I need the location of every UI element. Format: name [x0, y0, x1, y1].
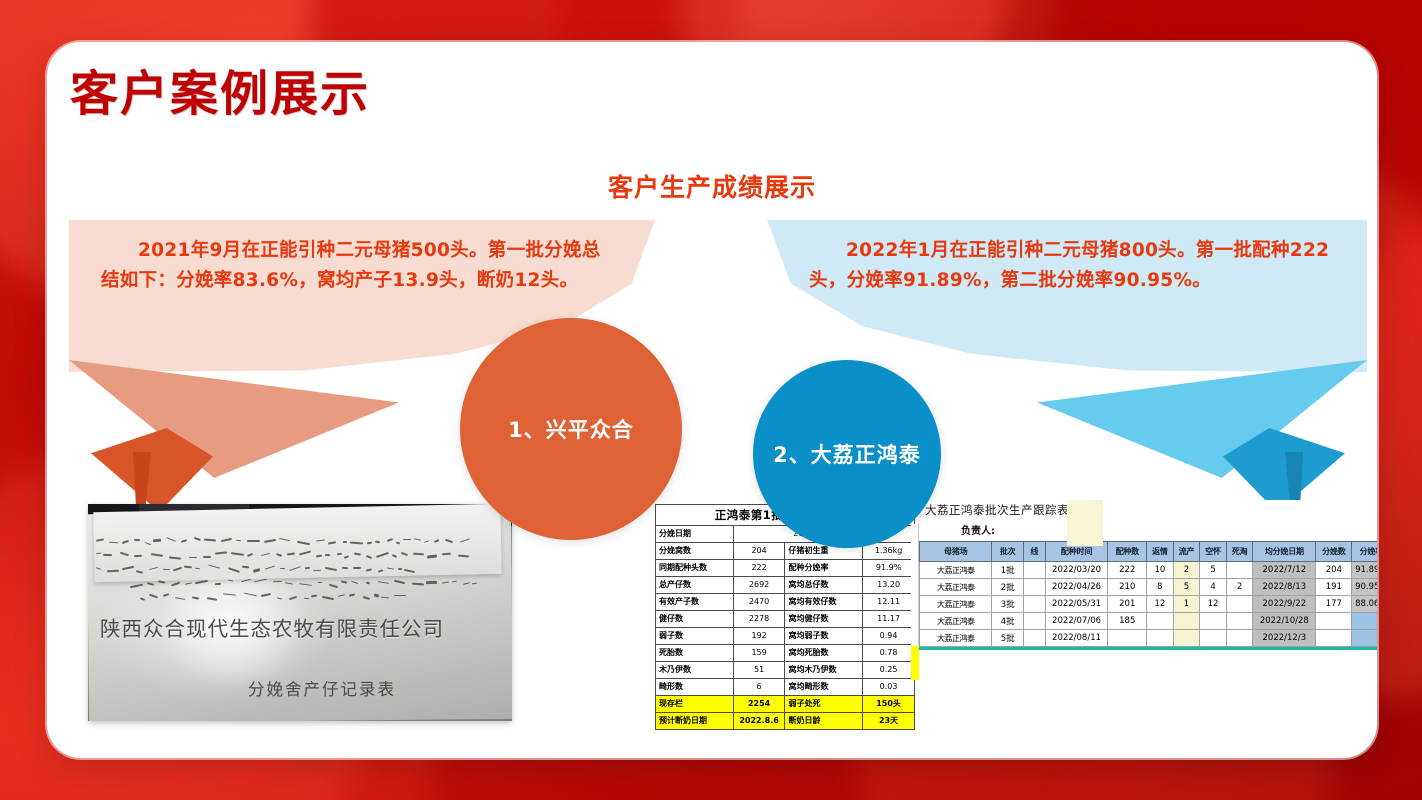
cell-label: 健仔数 — [656, 611, 734, 628]
table-row: 分娩窝数204仔猪初生重1.36kg — [656, 543, 915, 560]
cell-value: 177 — [1316, 596, 1352, 613]
cell-value: 2022/9/22 — [1253, 596, 1316, 613]
cell-value: 大荔正鸿泰 — [920, 562, 992, 579]
cell-value: 1批 — [992, 562, 1023, 579]
cell-value — [1173, 630, 1200, 647]
cell-value — [1316, 613, 1352, 630]
cell-value: 4 — [1200, 579, 1227, 596]
cell-value — [1200, 630, 1227, 647]
table-row: 健仔数2278窝均健仔数11.17 — [656, 611, 915, 628]
cell-value: 88.06% — [1352, 596, 1377, 613]
table-row: 现存栏2254弱子处死150头 — [656, 696, 915, 713]
cell-value: 2批 — [992, 579, 1023, 596]
sheet-row-stub-highlight — [911, 646, 919, 680]
cell-value — [1147, 613, 1174, 630]
cell-value: 90.95% — [1352, 579, 1377, 596]
cell-value: 0.78 — [863, 645, 915, 662]
cell-value: 2022/07/06 — [1045, 613, 1108, 630]
cell-label: 配种分娩率 — [785, 560, 863, 577]
cell-value: 大荔正鸿泰 — [920, 579, 992, 596]
callout-left-text: 2021年9月在正能引种二元母猪500头。第一批分娩总结如下：分娩率83.6%，… — [101, 236, 613, 296]
cell-value — [1023, 596, 1045, 613]
cell-value: 201 — [1108, 596, 1147, 613]
cell-value: 12 — [1200, 596, 1227, 613]
cell-value: 5 — [1200, 562, 1227, 579]
cell-value: 12.11 — [863, 594, 915, 611]
cell-value: 2022/12/3 — [1253, 630, 1316, 647]
cell-value: 5 — [1173, 579, 1200, 596]
cell-label: 死胎数 — [656, 645, 734, 662]
cell-value: 2254 — [733, 696, 785, 713]
callout-right-text: 2022年1月在正能引种二元母猪800头。第一批配种222头，分娩率91.89%… — [809, 236, 1333, 296]
cell-label: 预计断奶日期 — [656, 713, 734, 730]
cell-value: 2 — [1173, 562, 1200, 579]
cell-label: 现存栏 — [656, 696, 734, 713]
cell-value — [1108, 630, 1147, 647]
cell-value: 大荔正鸿泰 — [920, 630, 992, 647]
table-row: 木乃伊数51窝均木乃伊数0.25 — [656, 662, 915, 679]
cell-value — [1352, 630, 1377, 647]
cell-value: 3批 — [992, 596, 1023, 613]
cell-label: 窝均总仔数 — [785, 577, 863, 594]
cell-label: 窝均健仔数 — [785, 611, 863, 628]
cell-value — [1316, 630, 1352, 647]
cell-value — [1023, 562, 1045, 579]
cell-value: 51 — [733, 662, 785, 679]
column-header: 均分娩日期 — [1253, 542, 1316, 562]
badge-case-1[interactable]: 1、兴平众合 — [460, 318, 682, 540]
column-header: 返情 — [1147, 542, 1174, 562]
cell-value — [1023, 579, 1045, 596]
photo-company-name: 陕西众合现代生态农牧有限责任公司 — [100, 612, 504, 642]
cell-value: 2 — [1226, 579, 1253, 596]
cell-value — [1226, 613, 1253, 630]
cell-value: 8 — [1147, 579, 1174, 596]
column-header: 母猪场 — [920, 542, 992, 562]
sheet-highlight-column — [1067, 500, 1103, 546]
column-header: 线 — [1023, 542, 1045, 562]
batch-table-green-bar — [919, 647, 1377, 650]
cell-value: 222 — [1108, 562, 1147, 579]
cell-value — [1023, 613, 1045, 630]
cell-value: 2470 — [733, 594, 785, 611]
cell-value: 204 — [1316, 562, 1352, 579]
table-row: 预计断奶日期2022.8.6断奶日龄23天 — [656, 713, 915, 730]
page-title: 客户案例展示 — [70, 68, 370, 121]
cell-value: 2022.8.6 — [733, 713, 785, 730]
cell-value: 0.03 — [863, 679, 915, 696]
table-row: 大荔正鸿泰2批2022/04/2621085422022/8/1319190.9… — [920, 579, 1378, 596]
cell-label: 窝均死胎数 — [785, 645, 863, 662]
cell-value: 11.17 — [863, 611, 915, 628]
cell-label: 窝均木乃伊数 — [785, 662, 863, 679]
cell-value: 150头 — [863, 696, 915, 713]
cell-value: 大荔正鸿泰 — [920, 613, 992, 630]
cell-value — [1226, 562, 1253, 579]
cell-value: 23天 — [863, 713, 915, 730]
cell-label: 弱子数 — [656, 628, 734, 645]
cell-value: 191 — [1316, 579, 1352, 596]
column-header: 空怀 — [1200, 542, 1227, 562]
column-header: 死淘 — [1226, 542, 1253, 562]
cell-value: 6 — [733, 679, 785, 696]
table-row: 大荔正鸿泰4批2022/07/061852022/10/28 — [920, 613, 1378, 630]
cell-value: 2022/8/13 — [1253, 579, 1316, 596]
batch-production-table: 大荔正鸿泰批次生产跟踪表 负责人: 母猪场批次线配种时间配种数返情流产空怀死淘均… — [919, 500, 1377, 650]
cell-value: 192 — [733, 628, 785, 645]
column-header: 分娩数 — [1316, 542, 1352, 562]
slide-content-card: 客户案例展示 客户生产成绩展示 2021年9月在正能引种二元母猪500头。第一批… — [47, 42, 1377, 758]
table-row: 大荔正鸿泰3批2022/05/31201121122022/9/2217788.… — [920, 596, 1378, 613]
farrowing-record-photo: 陕西众合现代生态农牧有限责任公司 分娩舍产仔记录表 — [88, 504, 512, 721]
cell-value: 大荔正鸿泰 — [920, 596, 992, 613]
badge-case-2[interactable]: 2、大荔正鸿泰 — [753, 360, 941, 548]
cell-value: 1.36kg — [863, 543, 915, 560]
cell-value: 91.89% — [1352, 562, 1377, 579]
cell-value: 5批 — [992, 630, 1023, 647]
cell-value — [1200, 613, 1227, 630]
cell-value: 2022/10/28 — [1253, 613, 1316, 630]
table-row: 畸形数6窝均畸形数0.03 — [656, 679, 915, 696]
cell-value: 1 — [1173, 596, 1200, 613]
batch-table-title: 大荔正鸿泰批次生产跟踪表 — [919, 500, 1377, 519]
cell-value: 0.94 — [863, 628, 915, 645]
cell-label: 畸形数 — [656, 679, 734, 696]
cell-value — [1173, 613, 1200, 630]
cell-value: 210 — [1108, 579, 1147, 596]
cell-value: 204 — [733, 543, 785, 560]
cell-value: 10 — [1147, 562, 1174, 579]
cell-value: 2022/08/11 — [1045, 630, 1108, 647]
column-header: 配种数 — [1108, 542, 1147, 562]
column-header: 批次 — [992, 542, 1023, 562]
cell-label: 弱子处死 — [785, 696, 863, 713]
table-row: 死胎数159窝均死胎数0.78 — [656, 645, 915, 662]
table-row: 大荔正鸿泰1批2022/03/2022210252022/7/1220491.8… — [920, 562, 1378, 579]
cell-value: 2022/05/31 — [1045, 596, 1108, 613]
cell-value: 2278 — [733, 611, 785, 628]
cell-value: 185 — [1108, 613, 1147, 630]
table-row: 总产仔数2692窝均总仔数13.20 — [656, 577, 915, 594]
batch-production-grid: 母猪场批次线配种时间配种数返情流产空怀死淘均分娩日期分娩数分娩率总仔 大荔正鸿泰… — [919, 541, 1377, 647]
cell-value: 13.20 — [863, 577, 915, 594]
badge-case-2-label: 2、大荔正鸿泰 — [773, 439, 921, 469]
cell-value — [1352, 613, 1377, 630]
table-row: 有效产子数2470窝均有效仔数12.11 — [656, 594, 915, 611]
cell-label: 窝均畸形数 — [785, 679, 863, 696]
section-title: 客户生产成绩展示 — [47, 168, 1377, 204]
cell-value: 2692 — [733, 577, 785, 594]
cell-value — [1226, 630, 1253, 647]
table-row: 大荔正鸿泰5批2022/08/112022/12/3 — [920, 630, 1378, 647]
cell-value: 4批 — [992, 613, 1023, 630]
column-header: 流产 — [1173, 542, 1200, 562]
cell-label: 分娩日期 — [656, 526, 734, 543]
column-header: 分娩率 — [1352, 542, 1377, 562]
cell-label: 同期配种头数 — [656, 560, 734, 577]
cell-value — [1226, 596, 1253, 613]
cell-label: 窝均有效仔数 — [785, 594, 863, 611]
sheet-row-stub — [911, 524, 919, 654]
cell-value — [1147, 630, 1174, 647]
batch-table-owner: 负责人: — [919, 519, 1377, 541]
cell-value: 2022/03/20 — [1045, 562, 1108, 579]
cell-label: 断奶日龄 — [785, 713, 863, 730]
cell-label: 窝均弱子数 — [785, 628, 863, 645]
cell-value: 91.9% — [863, 560, 915, 577]
cell-value: 0.25 — [863, 662, 915, 679]
cell-label: 木乃伊数 — [656, 662, 734, 679]
cell-value: 2022/04/26 — [1045, 579, 1108, 596]
cell-label: 总产仔数 — [656, 577, 734, 594]
cell-value: 222 — [733, 560, 785, 577]
photo-caption: 分娩舍产仔记录表 — [248, 676, 396, 700]
cell-value — [1023, 630, 1045, 647]
table-row: 弱子数192窝均弱子数0.94 — [656, 628, 915, 645]
cell-label: 分娩窝数 — [656, 543, 734, 560]
badge-case-1-label: 1、兴平众合 — [508, 414, 634, 444]
table-row: 同期配种头数222配种分娩率91.9% — [656, 560, 915, 577]
cell-value: 12 — [1147, 596, 1174, 613]
cell-value: 159 — [733, 645, 785, 662]
cell-value: 2022/7/12 — [1253, 562, 1316, 579]
cell-label: 有效产子数 — [656, 594, 734, 611]
